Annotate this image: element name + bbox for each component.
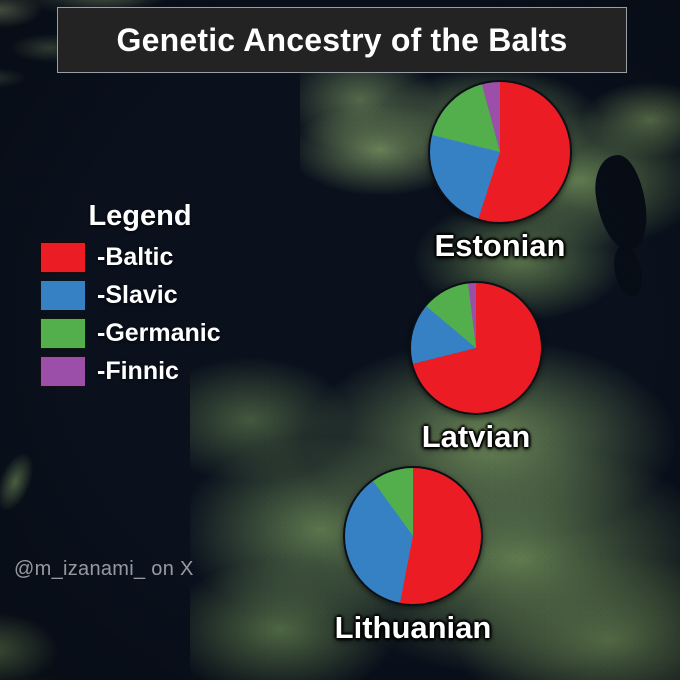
legend-item-germanic: -Germanic [40, 315, 280, 351]
legend-swatch-germanic [40, 318, 86, 349]
legend: Legend -Baltic -Slavic -Germanic -Finnic [40, 200, 280, 391]
legend-title: Legend [50, 200, 230, 233]
title-banner: Genetic Ancestry of the Balts [57, 7, 627, 73]
pie-chart-latvian: Latvian [409, 281, 543, 415]
pie-slices-estonian [428, 80, 572, 224]
legend-label-slavic: -Slavic [97, 281, 178, 310]
legend-item-slavic: -Slavic [40, 277, 280, 313]
legend-swatch-slavic [40, 280, 86, 311]
legend-label-baltic: -Baltic [97, 243, 173, 272]
infographic-canvas: Genetic Ancestry of the Balts Legend -Ba… [0, 0, 680, 680]
legend-label-finnic: -Finnic [97, 357, 179, 386]
pie-label-lithuanian: Lithuanian [335, 610, 492, 646]
pie-chart-lithuanian: Lithuanian [343, 466, 483, 606]
pie-chart-estonian: Estonian [428, 80, 572, 224]
pie-label-estonian: Estonian [435, 228, 566, 264]
pie-slices-lithuanian [343, 466, 483, 606]
legend-swatch-finnic [40, 356, 86, 387]
pie-label-latvian: Latvian [422, 419, 531, 455]
legend-item-baltic: -Baltic [40, 239, 280, 275]
legend-label-germanic: -Germanic [97, 319, 221, 348]
pie-slices-latvian [409, 281, 543, 415]
page-title: Genetic Ancestry of the Balts [117, 22, 568, 59]
watermark: @m_izanami_ on X [14, 558, 194, 581]
legend-swatch-baltic [40, 242, 86, 273]
legend-item-finnic: -Finnic [40, 353, 280, 389]
